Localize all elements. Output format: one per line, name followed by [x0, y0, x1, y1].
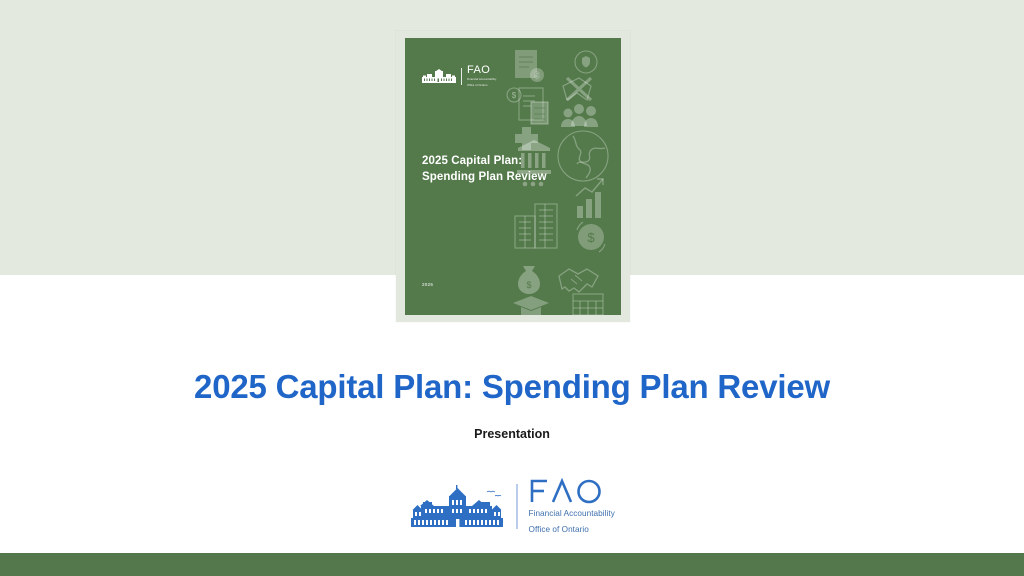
document-calculator-icon: $: [507, 88, 548, 124]
handshake-icon: [559, 269, 598, 292]
footer-fao-logo: Financial Accountability Office of Ontar…: [0, 478, 1024, 535]
svg-text:$: $: [535, 71, 540, 80]
cover-year: 2025: [422, 282, 433, 287]
cityscape-icon: [515, 204, 557, 248]
report-cover-thumbnail[interactable]: $ $: [396, 31, 630, 322]
footer-logo-divider: [516, 484, 517, 529]
cover-fao-logo: FAO Financial Accountability Office of O…: [422, 65, 496, 88]
svg-text:$: $: [512, 91, 517, 100]
presentation-slide: $ $: [0, 0, 1024, 576]
bottom-accent-bar: [0, 553, 1024, 576]
cover-title: 2025 Capital Plan: Spending Plan Review: [422, 153, 547, 186]
dollar-circle-icon: $: [577, 222, 605, 252]
footer-logo-tagline-line2: Office of Ontario: [529, 524, 615, 535]
legislative-building-icon: [422, 69, 456, 83]
shield-icon: [575, 51, 597, 73]
footer-logo-wordmark: [529, 478, 615, 503]
report-cover-page: $ $: [405, 38, 621, 315]
footer-logo-tagline-line1: Financial Accountability: [529, 508, 615, 519]
cover-logo-tagline-line1: Financial Accountability: [467, 78, 496, 82]
airplane-route-icon: [563, 78, 591, 100]
people-group-icon: [561, 104, 598, 127]
calendar-icon: [573, 294, 603, 315]
page-title: 2025 Capital Plan: Spending Plan Review: [0, 368, 1024, 406]
cover-logo-wordmark: FAO: [467, 65, 496, 76]
page-subtitle: Presentation: [0, 427, 1024, 441]
logo-divider: [461, 68, 462, 85]
cover-logo-tagline-line2: Office of Ontario: [467, 84, 496, 88]
document-dollar-icon: $: [515, 50, 544, 82]
globe-icon: [558, 131, 608, 181]
graduation-cap-icon: [513, 296, 549, 315]
svg-text:$: $: [587, 230, 595, 245]
legislative-building-icon: [409, 484, 505, 530]
svg-text:$: $: [526, 280, 531, 290]
bar-chart-arrow-icon: [576, 179, 603, 218]
money-bag-icon: $: [518, 266, 540, 294]
